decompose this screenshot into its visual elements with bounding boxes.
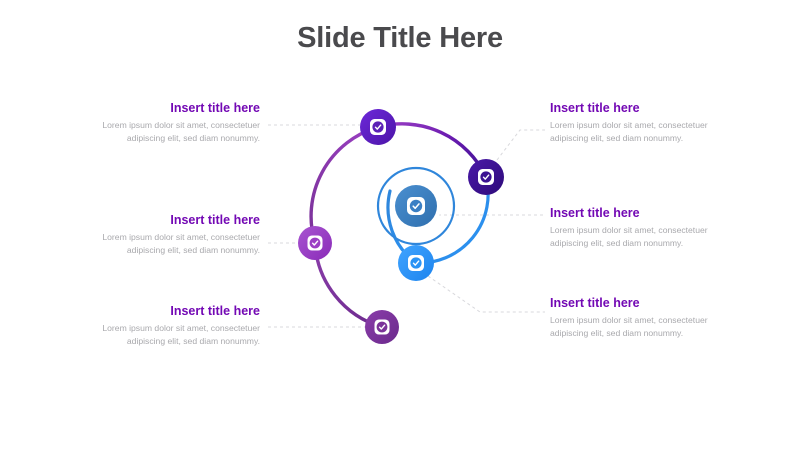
node-center[interactable] xyxy=(391,181,441,231)
info-block-1: Insert title here Lorem ipsum dolor sit … xyxy=(70,100,260,144)
info-block-3-title: Insert title here xyxy=(70,303,260,319)
node-1-disc xyxy=(360,109,396,145)
node-center-halo xyxy=(391,181,441,231)
info-block-4: Insert title here Lorem ipsum dolor sit … xyxy=(550,100,740,144)
node-6-disc xyxy=(398,245,434,281)
node-3[interactable] xyxy=(365,310,399,344)
check-circle-icon xyxy=(480,171,491,182)
node-center-disc xyxy=(395,185,437,227)
outer-arc-bottom xyxy=(315,243,382,327)
info-block-4-body: Lorem ipsum dolor sit amet, consectetuer… xyxy=(550,119,740,144)
check-circle-icon xyxy=(377,322,388,333)
connector-6 xyxy=(428,276,545,312)
mid-arc-blue-left xyxy=(388,191,416,263)
inner-ring-circle xyxy=(378,168,454,244)
node-2-badge xyxy=(308,236,323,251)
info-block-6: Insert title here Lorem ipsum dolor sit … xyxy=(550,295,740,339)
info-block-5-body: Lorem ipsum dolor sit amet, consectetuer… xyxy=(550,224,740,249)
node-4[interactable] xyxy=(468,159,504,195)
node-1-badge xyxy=(370,119,386,135)
node-6[interactable] xyxy=(398,245,434,281)
mid-arc-blue-right xyxy=(416,177,488,263)
slide-canvas: Slide Title Here Insert title here Lorem… xyxy=(0,0,800,450)
node-3-disc xyxy=(365,310,399,344)
node-6-badge xyxy=(408,255,424,271)
info-block-3: Insert title here Lorem ipsum dolor sit … xyxy=(70,303,260,347)
info-block-5-title: Insert title here xyxy=(550,205,740,221)
info-block-6-body: Lorem ipsum dolor sit amet, consectetuer… xyxy=(550,314,740,339)
outer-arc-top xyxy=(378,124,486,177)
check-circle-icon xyxy=(372,121,383,132)
check-circle-icon xyxy=(310,238,321,249)
info-block-4-title: Insert title here xyxy=(550,100,740,116)
info-block-2-title: Insert title here xyxy=(70,212,260,228)
node-4-badge xyxy=(478,169,494,185)
info-block-5: Insert title here Lorem ipsum dolor sit … xyxy=(550,205,740,249)
info-block-1-title: Insert title here xyxy=(70,100,260,116)
check-circle-icon xyxy=(410,257,421,268)
info-block-6-title: Insert title here xyxy=(550,295,740,311)
node-1[interactable] xyxy=(360,109,396,145)
connector-4 xyxy=(497,130,545,160)
node-4-disc xyxy=(468,159,504,195)
info-block-1-body: Lorem ipsum dolor sit amet, consectetuer… xyxy=(70,119,260,144)
node-2[interactable] xyxy=(298,226,332,260)
node-2-disc xyxy=(298,226,332,260)
info-block-2-body: Lorem ipsum dolor sit amet, consectetuer… xyxy=(70,231,260,256)
info-block-3-body: Lorem ipsum dolor sit amet, consectetuer… xyxy=(70,322,260,347)
node-3-badge xyxy=(375,320,390,335)
outer-arc-left xyxy=(311,127,378,243)
info-block-2: Insert title here Lorem ipsum dolor sit … xyxy=(70,212,260,256)
page-title: Slide Title Here xyxy=(0,22,800,55)
connector-group xyxy=(268,125,545,327)
check-circle-icon xyxy=(410,200,422,212)
node-center-badge xyxy=(407,197,425,215)
